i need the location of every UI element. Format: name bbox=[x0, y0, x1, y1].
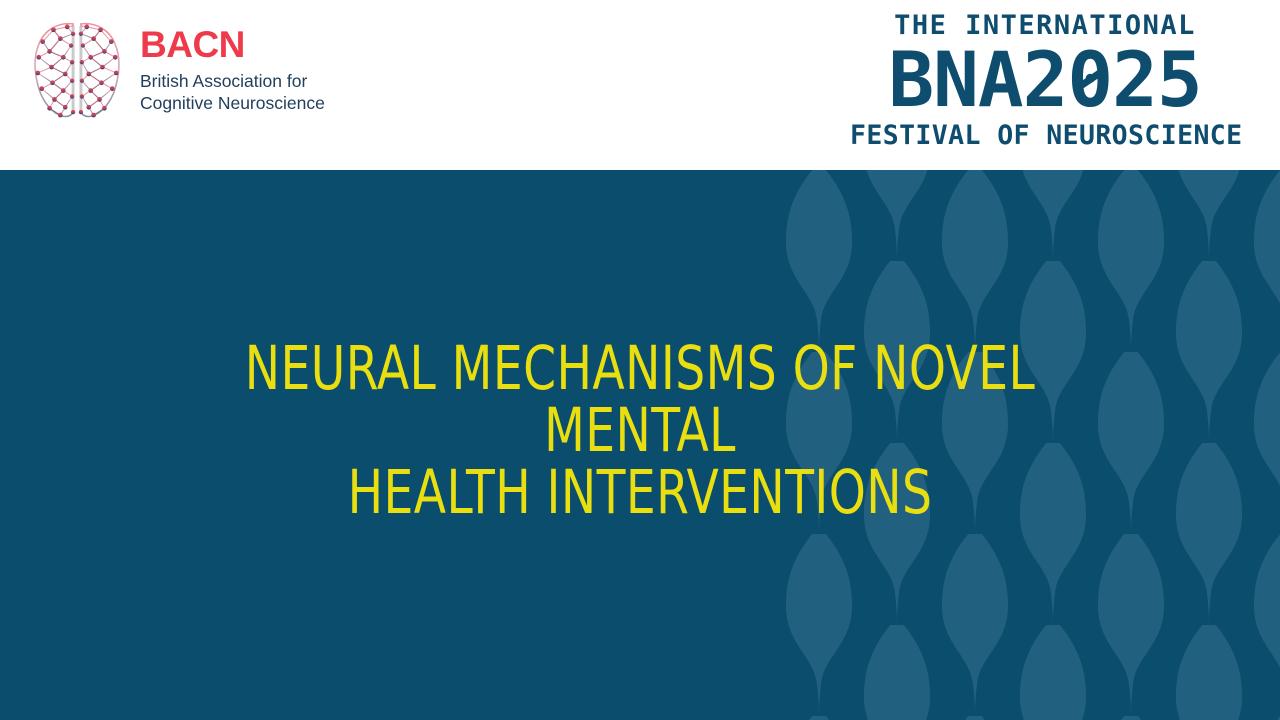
bna-2025-logo: THE INTERNATIONAL BNA2025 FESTIVAL OF NE… bbox=[850, 12, 1240, 149]
slide-header: BACN British Association for Cognitive N… bbox=[0, 0, 1280, 170]
bacn-wordmark: BACN British Association for Cognitive N… bbox=[140, 26, 325, 114]
brain-network-icon bbox=[28, 18, 126, 122]
bna-logo-slashed-zero: 0 bbox=[1067, 41, 1112, 119]
title-block: NEURAL MECHANISMS OF NOVEL MENTAL HEALTH… bbox=[0, 170, 1280, 720]
slide-body: NEURAL MECHANISMS OF NOVEL MENTAL HEALTH… bbox=[0, 170, 1280, 720]
bna-logo-bottom-line: FESTIVAL OF NEUROSCIENCE bbox=[850, 123, 1240, 150]
bacn-subtitle-line2: Cognitive Neuroscience bbox=[140, 92, 325, 114]
bacn-acronym: BACN bbox=[140, 26, 325, 63]
bacn-subtitle: British Association for Cognitive Neuros… bbox=[140, 70, 325, 114]
bna-logo-main-line: BNA2025 bbox=[850, 41, 1240, 119]
bna-logo-main-suffix: 25 bbox=[1112, 35, 1202, 124]
bna-logo-main-prefix: BNA2 bbox=[888, 35, 1067, 124]
bacn-logo: BACN British Association for Cognitive N… bbox=[28, 18, 325, 122]
presentation-slide: BACN British Association for Cognitive N… bbox=[0, 0, 1280, 720]
bacn-subtitle-line1: British Association for bbox=[140, 70, 325, 92]
slide-title: NEURAL MECHANISMS OF NOVEL MENTAL HEALTH… bbox=[158, 338, 1121, 525]
